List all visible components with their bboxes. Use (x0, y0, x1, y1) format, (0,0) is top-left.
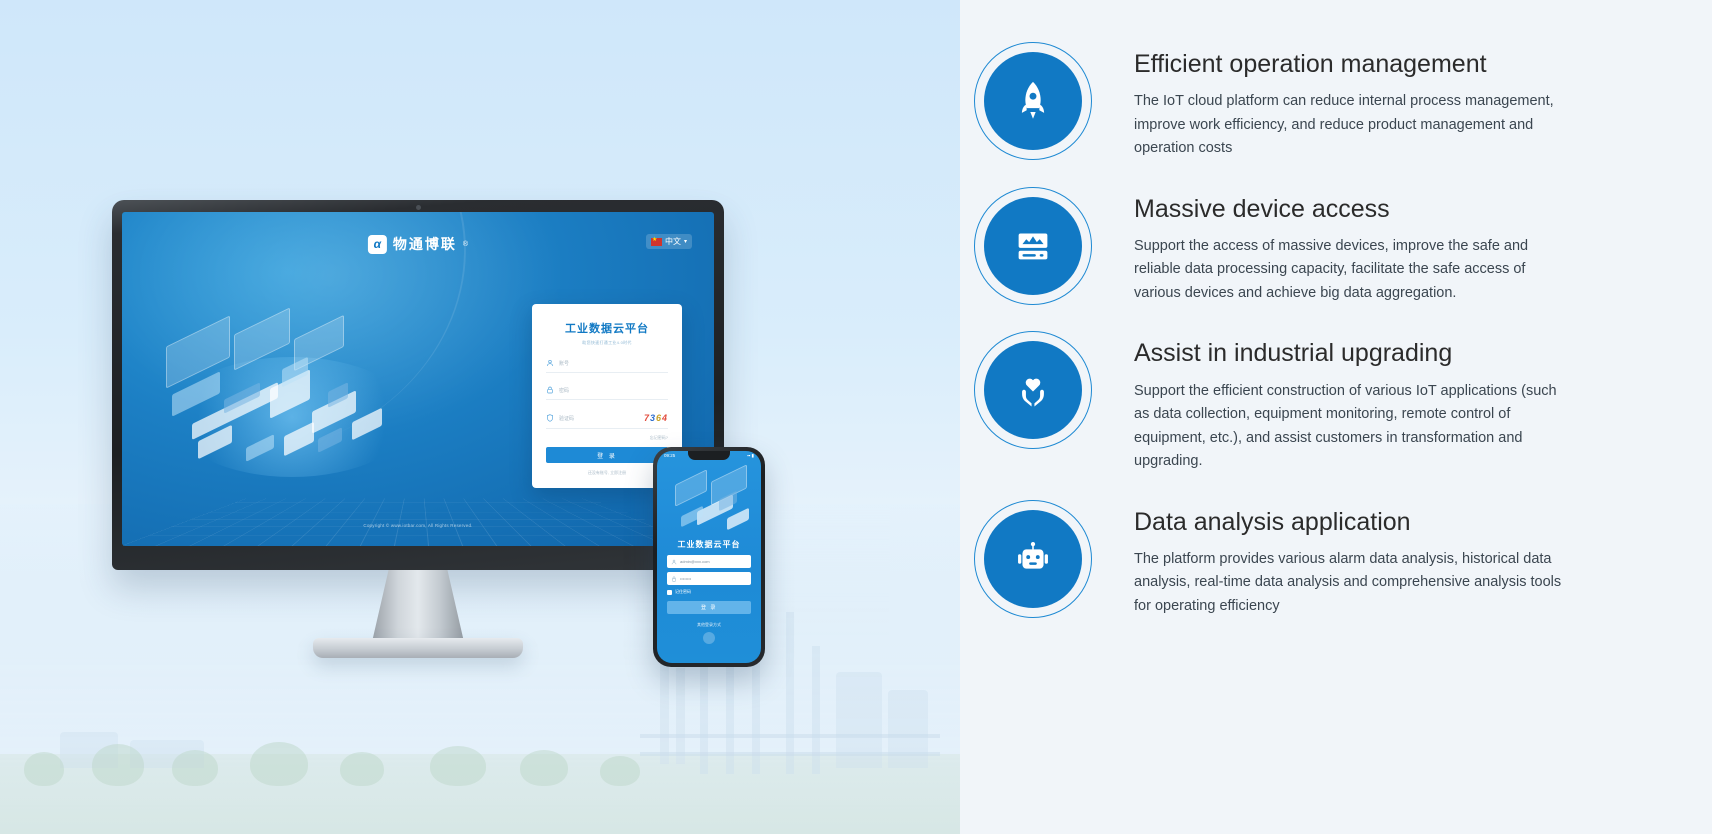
rocket-icon (1010, 78, 1056, 124)
phone-title: 工业数据云平台 (657, 539, 761, 550)
feature-badge-inner (984, 510, 1082, 608)
lock-icon (546, 386, 554, 394)
webcam-icon (416, 205, 421, 210)
forgot-password-link[interactable]: 忘记密码? (546, 435, 668, 441)
feature-badge (974, 42, 1092, 160)
checkbox-icon (667, 590, 672, 595)
phone-alt-login-label: 其他登录方式 (667, 622, 751, 628)
feature-badge (974, 500, 1092, 618)
status-icons: ▪▪ ▮ (747, 453, 754, 459)
monitor-bezel: α 物通博联 ® 中文 ▾ (112, 200, 724, 570)
phone-login-button[interactable]: 登 录 (667, 601, 751, 614)
register-link[interactable]: 还没有账号, 立即注册 (546, 470, 668, 476)
phone-login-form: admin@xxx.com •••••••• 记住密码 登 录 (667, 555, 751, 644)
feature-badge-inner (984, 197, 1082, 295)
feature-item: Massive device access Support the access… (960, 187, 1562, 306)
desktop-monitor-mockup: α 物通博联 ® 中文 ▾ (112, 200, 724, 570)
feature-text: Data analysis application The platform p… (1134, 500, 1562, 619)
platform-logo: α 物通博联 ® (368, 234, 468, 254)
features-panel: Efficient operation management The IoT c… (960, 0, 1712, 834)
feature-item: Efficient operation management The IoT c… (960, 42, 1562, 161)
language-selector[interactable]: 中文 ▾ (646, 234, 692, 249)
language-label: 中文 (665, 236, 681, 247)
login-title: 工业数据云平台 (546, 320, 668, 336)
remember-password-checkbox[interactable]: 记住密码 (667, 589, 751, 595)
feature-title: Massive device access (1134, 191, 1562, 227)
device-monitor-icon (1010, 223, 1056, 269)
wl-logo-icon: α (368, 235, 387, 254)
feature-badge-inner (984, 52, 1082, 150)
phone-status-bar: 09:25 ▪▪ ▮ (657, 453, 761, 459)
phone-password-field[interactable]: •••••••• (667, 572, 751, 585)
phone-alt-login-icon[interactable] (703, 632, 715, 644)
feature-title: Data analysis application (1134, 504, 1562, 540)
shield-icon (546, 414, 554, 422)
mobile-phone-mockup: 09:25 ▪▪ ▮ 工业数据云平台 (653, 447, 765, 667)
password-placeholder: 密码 (559, 387, 668, 394)
isometric-illustration (162, 317, 422, 492)
monitor-stand-base (313, 638, 523, 658)
feature-badge-inner (984, 341, 1082, 439)
feature-title: Assist in industrial upgrading (1134, 335, 1562, 371)
phone-password-value: •••••••• (680, 576, 691, 581)
login-subtitle: 助您快速打通工业4.0时代 (546, 340, 668, 346)
user-icon (671, 559, 677, 565)
heart-in-hands-icon (1010, 367, 1056, 413)
feature-badge (974, 187, 1092, 305)
feature-description: Support the efficient construction of va… (1134, 380, 1562, 474)
feature-item: Data analysis application The platform p… (960, 500, 1562, 619)
feature-title: Efficient operation management (1134, 46, 1562, 82)
feature-text: Assist in industrial upgrading Support t… (1134, 331, 1562, 473)
remember-label: 记住密码 (675, 589, 691, 595)
captcha-field[interactable]: 验证码 7364 (546, 406, 668, 429)
lock-icon (671, 576, 677, 582)
account-placeholder: 账号 (559, 360, 668, 367)
phone-illustration (671, 473, 755, 535)
feature-item: Assist in industrial upgrading Support t… (960, 331, 1562, 473)
account-field[interactable]: 账号 (546, 352, 668, 373)
feature-badge (974, 331, 1092, 449)
feature-description: Support the access of massive devices, i… (1134, 235, 1562, 305)
password-field[interactable]: 密码 (546, 379, 668, 400)
phone-account-field[interactable]: admin@xxx.com (667, 555, 751, 568)
screen-copyright: Copyright © www.iotbar.com, All Rights R… (122, 523, 714, 528)
registered-mark: ® (463, 241, 468, 248)
captcha-image[interactable]: 7364 (644, 413, 668, 423)
robot-icon (1010, 536, 1056, 582)
feature-text: Efficient operation management The IoT c… (1134, 42, 1562, 161)
status-time: 09:25 (664, 453, 675, 459)
monitor-screen: α 物通博联 ® 中文 ▾ (122, 212, 714, 546)
feature-description: The platform provides various alarm data… (1134, 548, 1562, 618)
feature-description: The IoT cloud platform can reduce intern… (1134, 90, 1562, 160)
captcha-placeholder: 验证码 (559, 415, 639, 422)
chevron-down-icon: ▾ (684, 238, 687, 245)
product-showcase-panel: α 物通博联 ® 中文 ▾ (0, 0, 960, 834)
login-submit-button[interactable]: 登 录 (546, 447, 668, 463)
phone-screen: 09:25 ▪▪ ▮ 工业数据云平台 (657, 451, 761, 663)
brand-name: 物通博联 (393, 234, 457, 254)
phone-account-value: admin@xxx.com (680, 559, 710, 564)
feature-text: Massive device access Support the access… (1134, 187, 1562, 306)
china-flag-icon (651, 238, 662, 246)
user-icon (546, 359, 554, 367)
page-root: α 物通博联 ® 中文 ▾ (0, 0, 1712, 834)
